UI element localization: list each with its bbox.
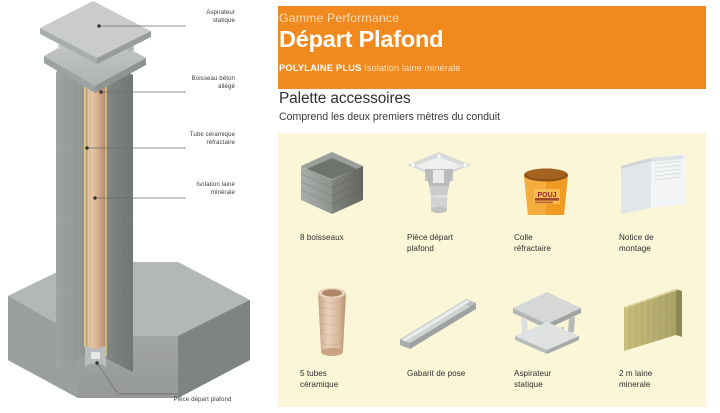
callout-isolation-laine-minerale: Isolation laine minérale (150, 181, 235, 197)
ceiling-start-piece-icon (385, 141, 492, 229)
instruction-booklet-icon (599, 141, 706, 229)
static-aspirator-cap-icon (492, 277, 599, 365)
product-description: Isolation laine minérale (364, 63, 460, 73)
callout-boisseau-beton-allege: Boisseau béton allégé (150, 75, 235, 91)
laying-jig-bar-icon (385, 277, 492, 365)
accessory-row-2: 5 tubes céramique Gabarit de pose (278, 277, 706, 390)
accessory-item-8-boisseaux: 8 boisseaux (278, 141, 385, 254)
accessory-label: Notice de montage (599, 233, 706, 254)
product-subline: POLYLAINE PLUS Isolation laine minérale (279, 63, 460, 73)
section-subtitle: Comprend les deux premiers mètres du con… (279, 111, 500, 123)
callout-tube-ceramique-refractaire: Tube céramique réfractaire (150, 131, 235, 147)
range-label: Gamme Performance (279, 11, 399, 25)
callout-piece-depart-plafond: Pièce départ plafond (150, 396, 255, 404)
accessory-item-notice-de-montage: Notice de montage (599, 141, 706, 254)
accessory-item-gabarit-de-pose: Gabarit de pose (385, 277, 492, 390)
accessory-label: 5 tubes céramique (278, 369, 385, 390)
refractory-glue-bucket-icon: POUJ (492, 141, 599, 229)
ceramic-tube-icon (278, 277, 385, 365)
section-title: Palette accessoires (279, 90, 411, 108)
accessory-item-aspirateur-statique: Aspirateur statique (492, 277, 599, 390)
accessory-label: 2 m laine minerale (599, 369, 706, 390)
accessory-item-colle-refractaire: POUJ Colle réfractaire (492, 141, 599, 254)
product-brand: POLYLAINE PLUS (279, 63, 362, 73)
accessory-row-1: 8 boisseaux (278, 141, 706, 254)
accessory-item-piece-depart-plafond: Pièce départ plafond (385, 141, 492, 254)
svg-text:POUJ: POUJ (537, 192, 556, 199)
accessory-palette-panel: 8 boisseaux (278, 133, 706, 407)
accessory-item-5-tubes-ceramique: 5 tubes céramique (278, 277, 385, 390)
accessory-label: Gabarit de pose (385, 369, 492, 380)
content-panel: Gamme Performance Départ Plafond POLYLAI… (262, 0, 720, 413)
chimney-diagram-panel: Aspirateur statique Boisseau béton allég… (0, 0, 262, 413)
start-piece-bottom (85, 345, 106, 373)
ceramic-flue-tube (86, 76, 105, 356)
accessory-label: Pièce départ plafond (385, 233, 492, 254)
product-sheet-page: Aspirateur statique Boisseau béton allég… (0, 0, 720, 413)
accessory-item-2m-laine-minerale: 2 m laine minerale (599, 277, 706, 390)
chimney-cutaway-illustration (0, 0, 262, 413)
accessory-label: Colle réfractaire (492, 233, 599, 254)
page-title: Départ Plafond (279, 26, 443, 53)
mineral-wool-panel-icon (599, 277, 706, 365)
callout-aspirateur-statique: Aspirateur statique (150, 9, 235, 25)
concrete-block-stack-icon (278, 141, 385, 229)
accessory-label: Aspirateur statique (492, 369, 599, 390)
accessory-label: 8 boisseaux (278, 233, 385, 244)
